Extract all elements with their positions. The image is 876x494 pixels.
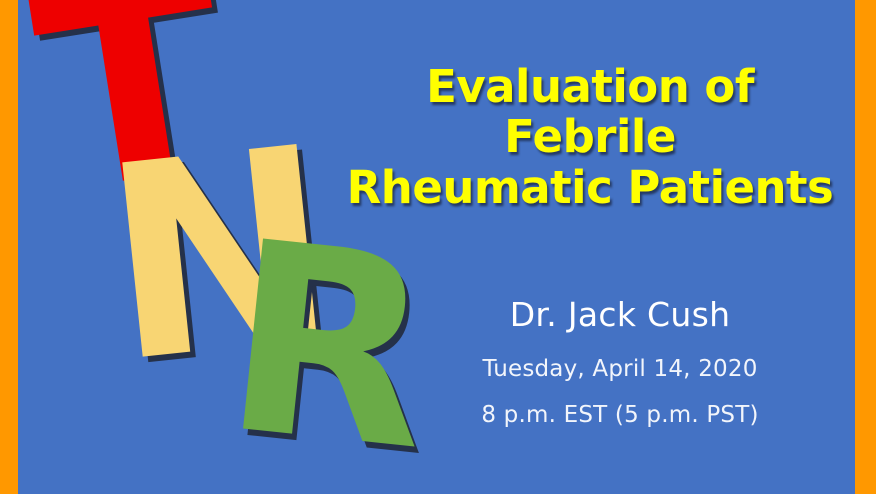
title-line-1: Evaluation of [320, 62, 860, 112]
presentation-title: Evaluation of Febrile Rheumatic Patients [320, 62, 860, 213]
session-details: Dr. Jack Cush Tuesday, April 14, 2020 8 … [400, 295, 840, 430]
title-line-3: Rheumatic Patients [320, 163, 860, 213]
title-line-2: Febrile [320, 112, 860, 162]
speaker-name: Dr. Jack Cush [400, 295, 840, 335]
session-time: 8 p.m. EST (5 p.m. PST) [400, 401, 840, 430]
webinar-title-slide: T N R Evaluation of Febrile Rheumatic Pa… [0, 0, 876, 494]
session-date: Tuesday, April 14, 2020 [400, 355, 840, 384]
